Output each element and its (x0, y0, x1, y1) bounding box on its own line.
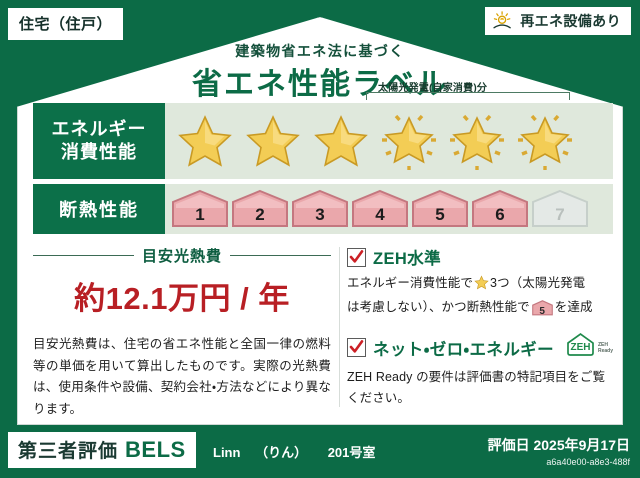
building-identification: Linn （りん） 201号室 (213, 442, 375, 461)
renewable-equipment-badge: 再エネ設備あり (485, 7, 631, 35)
claim-body-part2: は考慮しない）、かつ断熱性能で (347, 300, 530, 314)
claim-zeh-level: ZEH水準 エネルギー消費性能で 3つ（太陽光発電 は考慮しない）、かつ断熱性能… (347, 245, 609, 318)
performance-claims-section: ZEH水準 エネルギー消費性能で 3つ（太陽光発電 は考慮しない）、かつ断熱性能… (347, 245, 609, 413)
grade-number: 7 (555, 205, 564, 225)
evaluation-id: a6a40e00-a8e3-488f (488, 457, 630, 467)
energy-stars-panel: 太陽光発電(自家消費)分 (165, 103, 613, 179)
star-plain (171, 109, 238, 173)
evaluation-info: 評価日 2025年9月17日 a6a40e00-a8e3-488f (488, 435, 630, 467)
utility-cost-heading-text: 目安光熱費 (142, 245, 222, 266)
energy-performance-row: エネルギー 消費性能 太陽光発電(自家消費)分 (33, 103, 613, 179)
claim-net-zero-energy: ネット・ゼロ・エネルギー ZEH ZEH Ready ZEH Ready の要件… (347, 332, 609, 409)
utility-cost-amount: 約12.1万円 / 年 (33, 273, 331, 318)
renewable-badge-label: 再エネ設備あり (520, 11, 621, 31)
claim-body-part3: を達成 (555, 300, 593, 314)
bels-jp-label: 第三者評価 (18, 436, 118, 463)
claim-net-zero-body: ZEH Ready の要件は評価書の特記項目をご覧ください。 (347, 367, 609, 409)
house-type-tag: 住宅（住戸） (8, 8, 123, 40)
label-subtitle: 建築物省エネ法に基づく (17, 41, 623, 61)
claim-net-zero-head: ネット・ゼロ・エネルギー ZEH ZEH Ready (347, 332, 609, 363)
insulation-grade-badge: 1 (171, 189, 229, 229)
grade-number: 5 (435, 205, 444, 225)
claim-net-zero-title: ネット・ゼロ・エネルギー (373, 336, 554, 360)
utility-cost-section: 目安光熱費 約12.1万円 / 年 目安光熱費は、住宅の省エネ性能と全国一律の燃… (33, 245, 331, 420)
rule-right (230, 255, 331, 256)
claim-body-part1: エネルギー消費性能で (347, 276, 473, 290)
solar-annotation-bracket (366, 92, 570, 100)
grade-number: 3 (315, 205, 324, 225)
grade-number: 6 (495, 205, 504, 225)
grade-number: 1 (195, 205, 204, 225)
insulation-grade-badge: 4 (351, 189, 409, 229)
inline-grade-number: 5 (539, 306, 545, 317)
evaluation-date: 評価日 2025年9月17日 (488, 435, 630, 455)
star-solar (375, 109, 442, 173)
star-plain (307, 109, 374, 173)
checkmark-icon (347, 338, 366, 357)
utility-cost-note: 目安光熱費は、住宅の省エネ性能と全国一律の燃料等の単価を用いて算出したものです。… (33, 334, 331, 420)
energy-star-rating (171, 109, 578, 173)
zeh-ready-logo-icon: ZEH ZEH Ready (565, 332, 615, 363)
bels-evaluation-tag: 第三者評価 BELS (8, 432, 196, 468)
energy-label-root: 住宅（住戸） 再エネ設備あり 建築物省エネ法に基づく 省エネ性能ラベル (0, 0, 640, 478)
claim-zeh-level-head: ZEH水準 (347, 245, 609, 269)
checkmark-icon (347, 248, 366, 267)
building-name-kana: （りん） (255, 445, 307, 460)
insulation-grades-panel: 1 2 3 (165, 184, 613, 234)
room-number: 201号室 (328, 445, 376, 460)
label-content: 建築物省エネ法に基づく 省エネ性能ラベル エネルギー 消費性能 太陽光発電(自家… (17, 17, 623, 425)
star-plain (239, 109, 306, 173)
insulation-grade-badge: 3 (291, 189, 349, 229)
sun-solar-icon (492, 11, 514, 31)
claim-body-star-count: 3つ（太陽光発電 (490, 276, 585, 290)
star-solar (443, 109, 510, 173)
insulation-grade-badge: 5 (411, 189, 469, 229)
inline-grade-badge: 5 (532, 300, 553, 315)
utility-cost-heading: 目安光熱費 (33, 245, 331, 266)
star-solar (511, 109, 578, 173)
claim-zeh-level-title: ZEH水準 (373, 245, 441, 269)
rule-left (33, 255, 134, 256)
column-divider (339, 247, 340, 407)
building-name: Linn (213, 445, 240, 460)
energy-performance-label: エネルギー 消費性能 (33, 103, 165, 179)
svg-text:Ready: Ready (598, 348, 613, 354)
claim-zeh-level-body: エネルギー消費性能で 3つ（太陽光発電 は考慮しない）、かつ断熱性能で 5 を達… (347, 273, 609, 318)
insulation-grade-badge: 6 (471, 189, 529, 229)
label-footer: 第三者評価 BELS Linn （りん） 201号室 評価日 2025年9月17… (0, 425, 640, 478)
insulation-grade-badge: 7 (531, 189, 589, 229)
bels-en-label: BELS (125, 437, 186, 463)
svg-text:ZEH: ZEH (571, 342, 591, 353)
grade-number: 2 (255, 205, 264, 225)
inline-star-icon (474, 275, 489, 297)
insulation-grade-badge: 2 (231, 189, 289, 229)
insulation-grade-scale: 1 2 3 (171, 189, 589, 229)
insulation-performance-row: 断熱性能 1 2 (33, 184, 613, 234)
grade-number: 4 (375, 205, 384, 225)
insulation-performance-label: 断熱性能 (33, 184, 165, 234)
